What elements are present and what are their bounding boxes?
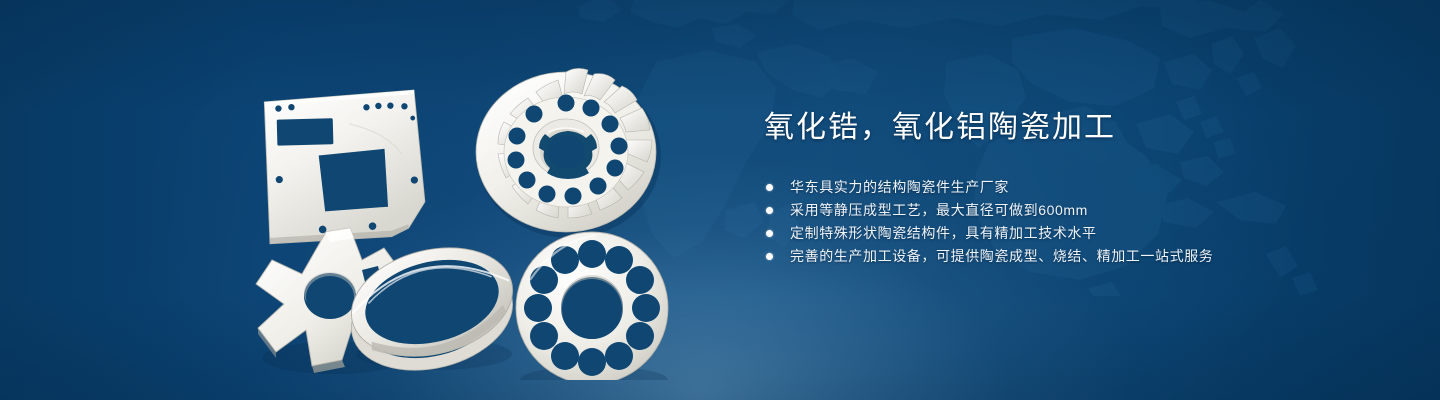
list-item-label: 华东具实力的结构陶瓷件生产厂家 (790, 179, 1009, 195)
bullet-icon (766, 230, 773, 237)
list-item: 完善的生产加工设备，可提供陶瓷成型、烧结、精加工一站式服务 (764, 245, 1384, 268)
page-title: 氧化锆，氧化铝陶瓷加工 (764, 108, 1384, 148)
ceramic-products-group (244, 44, 680, 380)
list-item: 定制特殊形状陶瓷结构件，具有精加工技术水平 (764, 222, 1384, 245)
list-item-label: 定制特殊形状陶瓷结构件，具有精加工技术水平 (790, 225, 1097, 241)
product-showcase (244, 44, 680, 380)
product-ceramic-ring (340, 232, 524, 380)
list-item: 采用等静压成型工艺，最大直径可做到600mm (764, 199, 1384, 222)
product-ceramic-plate (264, 90, 426, 244)
list-item-label: 采用等静压成型工艺，最大直径可做到600mm (790, 202, 1088, 218)
banner-text-block: 氧化锆，氧化铝陶瓷加工 华东具实力的结构陶瓷件生产厂家 采用等静压成型工艺，最大… (764, 108, 1384, 268)
list-item-label: 完善的生产加工设备，可提供陶瓷成型、烧结、精加工一站式服务 (790, 248, 1213, 264)
hero-banner: 氧化锆，氧化铝陶瓷加工 华东具实力的结构陶瓷件生产厂家 采用等静压成型工艺，最大… (0, 0, 1440, 400)
feature-list: 华东具实力的结构陶瓷件生产厂家 采用等静压成型工艺，最大直径可做到600mm 定… (764, 176, 1384, 268)
product-ceramic-perforated-disc (516, 232, 668, 380)
bullet-icon (766, 207, 773, 214)
list-item: 华东具实力的结构陶瓷件生产厂家 (764, 176, 1384, 199)
product-ceramic-impeller (476, 68, 661, 238)
bullet-icon (766, 184, 773, 191)
bullet-icon (766, 253, 773, 260)
